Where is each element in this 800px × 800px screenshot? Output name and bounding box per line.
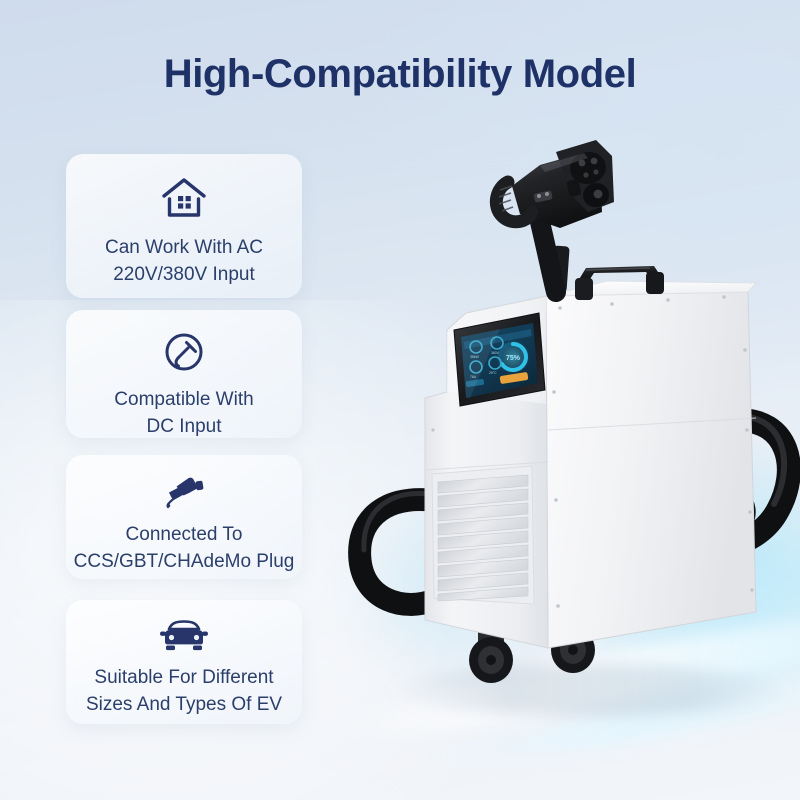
page-title: High-Compatibility Model bbox=[0, 52, 800, 97]
screen-stat-rings bbox=[470, 337, 503, 373]
feature-card-ev-types[interactable]: Suitable For Different Sizes And Types O… bbox=[66, 600, 302, 724]
panel-seams bbox=[425, 418, 756, 470]
feature-line-1: Can Work With AC bbox=[66, 234, 302, 261]
machine-top-panel bbox=[546, 281, 756, 296]
panel-screws bbox=[431, 295, 753, 608]
svg-text:76A: 76A bbox=[470, 375, 477, 379]
output-cable-left bbox=[360, 494, 434, 605]
dc-plug-circle-icon bbox=[162, 330, 206, 374]
wheel-rear-right bbox=[686, 564, 726, 606]
feature-card-text: Can Work With AC 220V/380V Input bbox=[66, 234, 302, 288]
machine-side-panel bbox=[546, 292, 756, 648]
light-streak-2 bbox=[421, 655, 800, 779]
feature-card-ac-input[interactable]: Can Work With AC 220V/380V Input bbox=[66, 154, 302, 298]
light-streak-1 bbox=[331, 589, 800, 756]
svg-text:35kW: 35kW bbox=[470, 355, 479, 359]
feature-card-text: Connected To CCS/GBT/CHAdeMo Plug bbox=[66, 521, 302, 575]
wheel-front-left bbox=[469, 628, 513, 683]
feature-line-1: Suitable For Different bbox=[66, 664, 302, 691]
gun-dc-pins bbox=[566, 179, 611, 210]
ccs-charging-gun bbox=[496, 140, 614, 292]
poster-background: 75% 35kW 360V 76A 25°C bbox=[0, 0, 800, 800]
feature-line-2: 220V/380V Input bbox=[66, 261, 302, 288]
svg-text:25°C: 25°C bbox=[489, 371, 497, 375]
car-front-icon bbox=[157, 618, 211, 654]
gun-ac-port bbox=[567, 149, 609, 188]
ventilation-louvers bbox=[432, 466, 534, 604]
screen-stat-labels: 35kW 360V 76A 25°C bbox=[470, 351, 500, 379]
feature-line-1: Compatible With bbox=[66, 386, 302, 413]
feature-line-2: CCS/GBT/CHAdeMo Plug bbox=[66, 548, 302, 575]
machine-front-panel bbox=[425, 296, 548, 648]
feature-line-2: DC Input bbox=[66, 413, 302, 438]
feature-card-text: Compatible With DC Input bbox=[66, 386, 302, 438]
gun-indicator bbox=[533, 190, 552, 203]
charging-gun-icon bbox=[158, 473, 210, 511]
svg-text:360V: 360V bbox=[491, 351, 500, 355]
feature-line-1: Connected To bbox=[66, 521, 302, 548]
top-carry-handle bbox=[575, 266, 664, 300]
feature-card-text: Suitable For Different Sizes And Types O… bbox=[66, 664, 302, 718]
feature-card-plug-types[interactable]: Connected To CCS/GBT/CHAdeMo Plug bbox=[66, 455, 302, 579]
feature-line-2: Sizes And Types Of EV bbox=[66, 691, 302, 718]
screen-action-button bbox=[500, 372, 529, 384]
svg-text:75%: 75% bbox=[506, 355, 521, 362]
light-streak-wide bbox=[552, 511, 800, 729]
wheel-front-right bbox=[551, 618, 595, 673]
cyan-glow-left bbox=[330, 470, 590, 700]
caster-wheels bbox=[469, 564, 726, 683]
gun-dock-posts bbox=[550, 246, 569, 293]
output-cable-right bbox=[681, 416, 789, 547]
screen-gauge: 75% bbox=[496, 340, 530, 374]
gun-grip-ribs bbox=[499, 186, 513, 211]
cyan-glow-right bbox=[600, 430, 800, 690]
ground-shadow bbox=[390, 664, 790, 716]
feature-card-dc-input[interactable]: Compatible With DC Input bbox=[66, 310, 302, 438]
machine-touchscreen: 75% 35kW 360V 76A 25°C bbox=[454, 313, 545, 406]
house-icon bbox=[160, 176, 208, 220]
